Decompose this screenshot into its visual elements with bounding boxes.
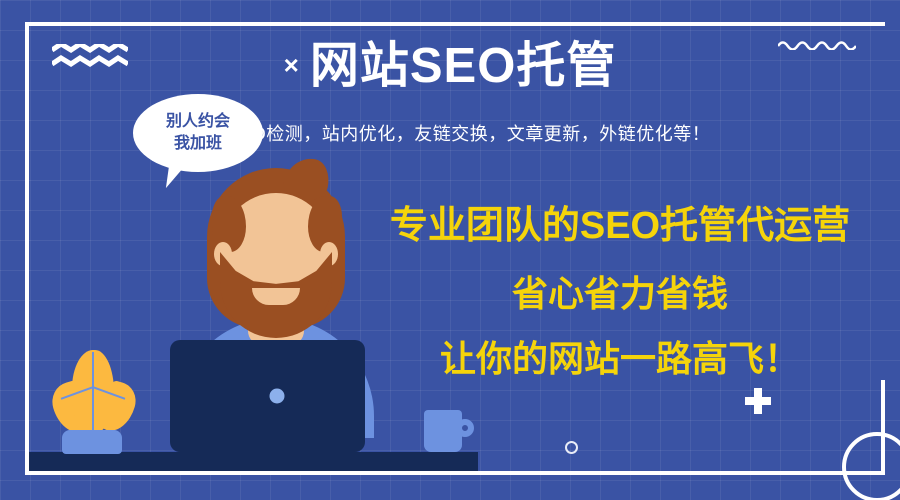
- page-title: ×网站SEO托管: [0, 42, 900, 91]
- frame-bottom-line: [25, 471, 885, 475]
- corner-circle-icon: [842, 432, 900, 500]
- laptop: [170, 340, 365, 452]
- selling-point-3: 让你的网站一路高飞！: [380, 330, 860, 382]
- plant-vein-stem: [92, 352, 94, 432]
- mug: [424, 410, 462, 452]
- plant-pot: [62, 430, 122, 454]
- selling-point-1: 专业团队的SEO托管代运营: [380, 194, 860, 249]
- laptop-logo-icon: [270, 389, 285, 404]
- speech-bubble: 别人约会 我加班: [133, 94, 263, 172]
- speech-bubble-line-2: 我加班: [174, 133, 222, 155]
- desk: [29, 452, 478, 471]
- plus-mark-icon: [745, 388, 771, 414]
- circle-outline-icon: [565, 441, 578, 454]
- frame-top-line: [25, 22, 885, 26]
- speech-bubble-line-1: 别人约会: [166, 111, 230, 133]
- page-title-text: 网站SEO托管: [310, 39, 616, 93]
- x-mark-icon: ×: [284, 50, 300, 80]
- selling-point-2: 省心省力省钱: [380, 265, 860, 317]
- seo-hosting-banner: ×网站SEO托管 含：SEO检测，站内优化，友链交换，文章更新，外链优化等！ 专…: [0, 0, 900, 500]
